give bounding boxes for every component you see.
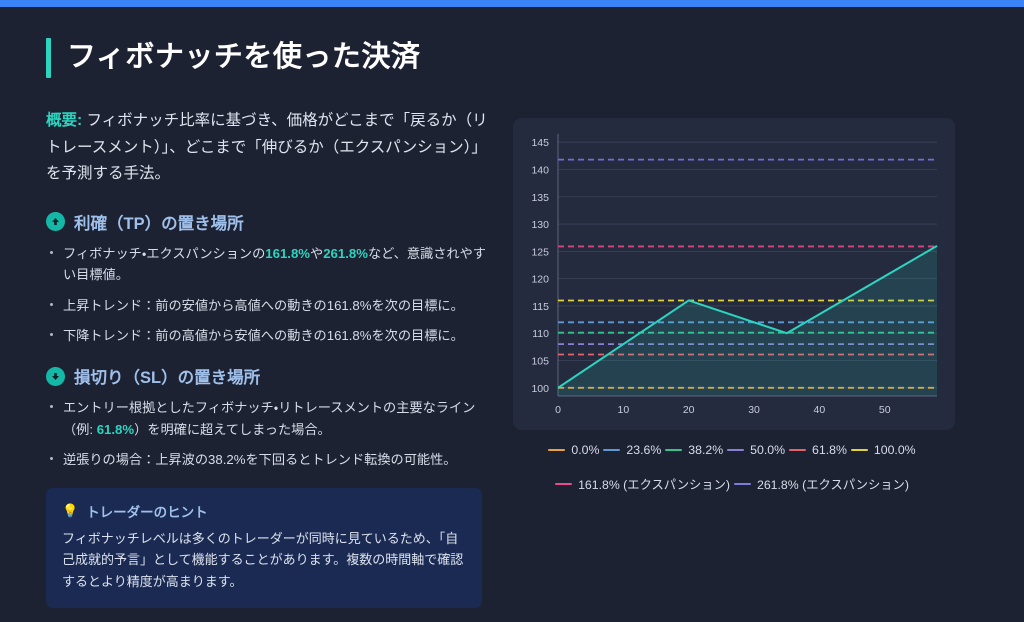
bullet-text: 上昇トレンド：前の安値から高値への動きの161.8%を次の目標に。 xyxy=(63,298,464,313)
legend-label: 261.8% (エクスパンション) xyxy=(757,475,909,493)
x-tick-label: 20 xyxy=(683,404,695,416)
legend-label: 100.0% xyxy=(874,443,916,457)
legend-color-swatch xyxy=(548,449,565,452)
y-tick-label: 140 xyxy=(531,164,549,176)
legend-item[interactable]: 23.6% xyxy=(603,443,665,457)
trader-tip-box: 💡 トレーダーのヒント フィボナッチレベルは多くのトレーダーが同時に見ているため… xyxy=(46,488,482,608)
highlight-value: 261.8% xyxy=(323,246,368,261)
title-row: フィボナッチを使った決済 xyxy=(46,38,496,78)
legend-item[interactable]: 61.8% xyxy=(789,443,851,457)
fibonacci-chart-panel: 1001051101151201251301351401450102030405… xyxy=(513,118,955,430)
section-title: 利確（TP）の置き場所 xyxy=(74,210,244,234)
x-tick-label: 40 xyxy=(814,404,826,416)
arrow-down-circle-icon xyxy=(46,367,65,386)
fibonacci-chart-svg: 1001051101151201251301351401450102030405… xyxy=(513,118,955,430)
section-bullet-list: エントリー根拠としたフィボナッチ・リトレースメントの主要なライン（例: 61.8… xyxy=(46,397,496,470)
y-tick-label: 115 xyxy=(532,301,549,313)
legend-color-swatch xyxy=(555,483,572,486)
top-accent-bar xyxy=(0,0,1024,7)
bullet-text: フィボナッチ・エクスパンションの xyxy=(63,246,265,261)
legend-item[interactable]: 100.0% xyxy=(851,443,920,457)
x-tick-label: 30 xyxy=(748,404,760,416)
section-header-0: 利確（TP）の置き場所 xyxy=(46,210,496,234)
y-tick-label: 105 xyxy=(531,356,549,368)
summary-paragraph: 概要: フィボナッチ比率に基づき、価格がどこまで「戻るか（リトレースメント）」、… xyxy=(46,108,496,188)
section-bullet-list: フィボナッチ・エクスパンションの161.8%や261.8%など、意識されやすい目… xyxy=(46,243,496,347)
list-item: 逆張りの場合：上昇波の38.2%を下回るとトレンド転換の可能性。 xyxy=(46,449,496,470)
legend-item[interactable]: 0.0% xyxy=(548,443,603,457)
summary-label: 概要: xyxy=(46,112,82,129)
highlight-value: 61.8% xyxy=(97,422,134,437)
legend-color-swatch xyxy=(603,449,620,452)
legend-color-swatch xyxy=(665,449,682,452)
slide-root: フィボナッチを使った決済 概要: フィボナッチ比率に基づき、価格がどこまで「戻る… xyxy=(0,0,1024,622)
bullet-text: や xyxy=(310,246,323,261)
legend-item[interactable]: 161.8% (エクスパンション) xyxy=(555,475,734,493)
section-title: 損切り（SL）の置き場所 xyxy=(74,364,260,388)
section-header-1: 損切り（SL）の置き場所 xyxy=(46,364,496,388)
chart-legend: 0.0%23.6%38.2%50.0%61.8%100.0% 161.8% (エ… xyxy=(513,443,955,493)
legend-color-swatch xyxy=(734,483,751,486)
legend-item[interactable]: 50.0% xyxy=(727,443,789,457)
x-tick-label: 10 xyxy=(618,404,630,416)
list-item: エントリー根拠としたフィボナッチ・リトレースメントの主要なライン（例: 61.8… xyxy=(46,397,496,440)
legend-row-expansion: 161.8% (エクスパンション)261.8% (エクスパンション) xyxy=(513,475,955,493)
tip-header: 💡 トレーダーのヒント xyxy=(62,501,466,521)
legend-label: 50.0% xyxy=(750,443,785,457)
list-item: 上昇トレンド：前の安値から高値への動きの161.8%を次の目標に。 xyxy=(46,295,496,316)
y-tick-label: 130 xyxy=(531,219,549,231)
legend-item[interactable]: 261.8% (エクスパンション) xyxy=(734,475,913,493)
legend-label: 61.8% xyxy=(812,443,847,457)
legend-row-primary: 0.0%23.6%38.2%50.0%61.8%100.0% xyxy=(513,443,955,457)
lightbulb-icon: 💡 xyxy=(62,504,78,517)
legend-label: 0.0% xyxy=(571,443,599,457)
y-tick-label: 145 xyxy=(531,137,549,149)
legend-label: 23.6% xyxy=(626,443,661,457)
bullet-text: ）を明確に超えてしまった場合。 xyxy=(134,422,331,437)
y-tick-label: 120 xyxy=(531,274,549,286)
left-content-column: フィボナッチを使った決済 概要: フィボナッチ比率に基づき、価格がどこまで「戻る… xyxy=(46,38,496,608)
y-tick-label: 100 xyxy=(531,383,549,395)
x-tick-label: 50 xyxy=(879,404,891,416)
y-tick-label: 135 xyxy=(531,192,549,204)
bullet-text: 下降トレンド：前の高値から安値への動きの161.8%を次の目標に。 xyxy=(63,328,464,343)
summary-text: フィボナッチ比率に基づき、価格がどこまで「戻るか（リトレースメント）」、どこまで… xyxy=(46,112,488,182)
x-tick-label: 0 xyxy=(555,404,561,416)
tip-title: トレーダーのヒント xyxy=(86,501,208,521)
arrow-up-circle-icon xyxy=(46,212,65,231)
y-tick-label: 125 xyxy=(531,246,549,258)
title-accent-bar xyxy=(46,38,51,78)
list-item: 下降トレンド：前の高値から安値への動きの161.8%を次の目標に。 xyxy=(46,325,496,346)
sections-container: 利確（TP）の置き場所フィボナッチ・エクスパンションの161.8%や261.8%… xyxy=(46,210,496,471)
list-item: フィボナッチ・エクスパンションの161.8%や261.8%など、意識されやすい目… xyxy=(46,243,496,286)
y-tick-label: 110 xyxy=(532,328,549,340)
legend-color-swatch xyxy=(789,449,806,452)
tip-body: フィボナッチレベルは多くのトレーダーが同時に見ているため、「自己成就的予言」とし… xyxy=(62,528,466,593)
bullet-text: 逆張りの場合：上昇波の38.2%を下回るとトレンド転換の可能性。 xyxy=(63,452,456,467)
page-title: フィボナッチを使った決済 xyxy=(67,42,420,74)
legend-color-swatch xyxy=(727,449,744,452)
legend-label: 38.2% xyxy=(688,443,723,457)
legend-label: 161.8% (エクスパンション) xyxy=(578,475,730,493)
legend-color-swatch xyxy=(851,449,868,452)
legend-item[interactable]: 38.2% xyxy=(665,443,727,457)
highlight-value: 161.8% xyxy=(265,246,310,261)
